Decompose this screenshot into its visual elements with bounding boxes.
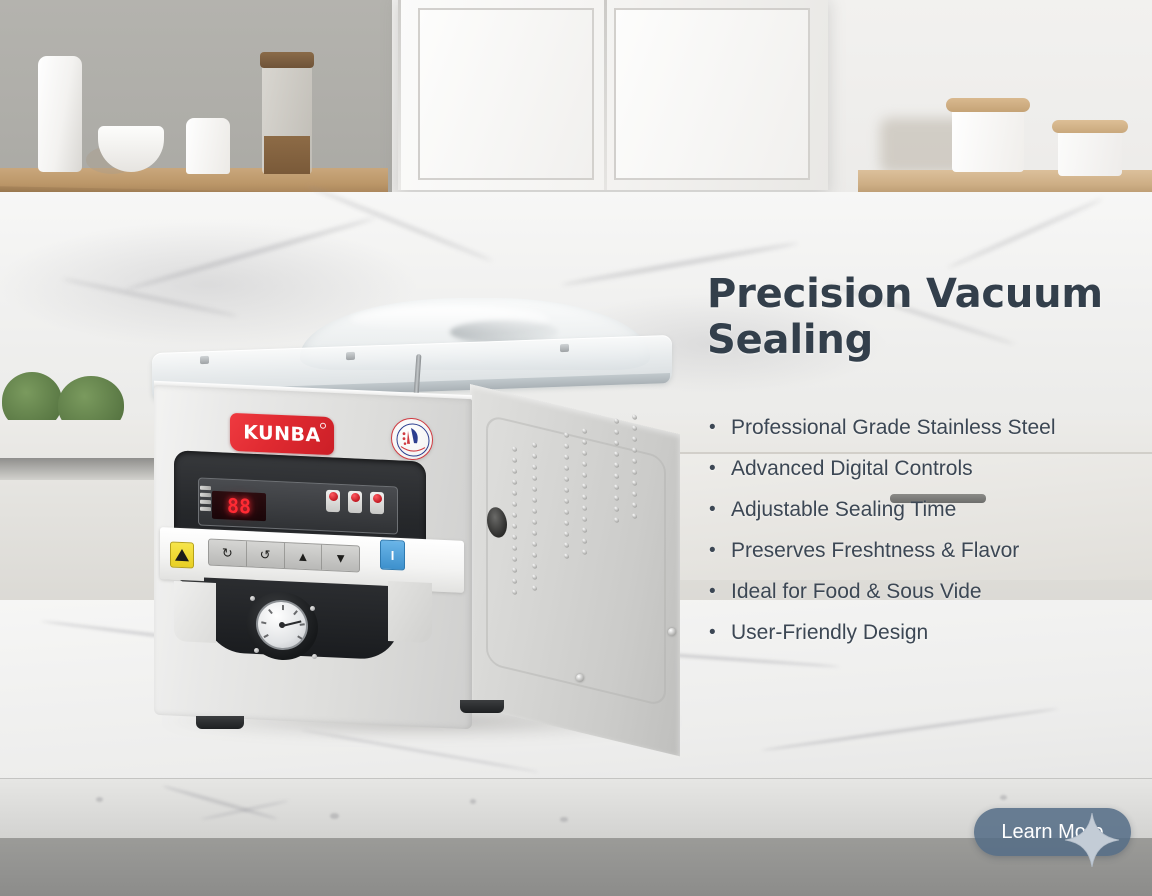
storage-canister-small: [1058, 128, 1122, 176]
list-item: Preserves Freshtness & Flavor: [707, 530, 1137, 571]
vent-column-3: [564, 432, 571, 566]
lid-gloss-highlight: [350, 306, 550, 332]
storage-canister-large: [952, 106, 1024, 172]
screw-rear-side: [668, 628, 676, 636]
lid-clip-right: [560, 344, 569, 352]
led-status-labels: [200, 486, 212, 515]
indicator-button-2[interactable]: [348, 491, 362, 514]
list-item: Professional Grade Stainless Steel: [707, 407, 1137, 448]
cabinet-seam-edge: [398, 0, 401, 190]
list-item: User-Friendly Design: [707, 612, 1137, 653]
gauge-screw-bl: [254, 648, 259, 653]
learn-more-button[interactable]: Learn More: [974, 808, 1131, 856]
front-panel-cutout-right: [388, 581, 432, 643]
cabinet-door-panel-right: [614, 8, 810, 180]
rubber-foot-front-left: [196, 716, 244, 729]
seal-cycle-button[interactable]: ↺: [247, 541, 285, 568]
power-button[interactable]: I: [380, 539, 405, 570]
vacuum-cycle-button[interactable]: ↻: [209, 540, 247, 567]
certification-sticker: [391, 417, 433, 461]
led-seven-segment-display: 88: [212, 491, 266, 521]
list-item: Adjustable Sealing Time: [707, 489, 1137, 530]
gauge-screw-br: [312, 654, 317, 659]
ceramic-vase: [38, 56, 82, 172]
jar-wooden-lid: [260, 52, 314, 68]
screw-bottom-side: [576, 674, 584, 682]
brand-logo-badge: KUNBA: [230, 413, 334, 455]
lid-clip-mid: [346, 352, 355, 360]
vent-column-1: [512, 446, 519, 602]
indicator-button-3[interactable]: [370, 492, 384, 515]
cabinet-door-panel-left: [418, 8, 594, 180]
product-image-vacuum-sealer: KUNBA 88: [140, 296, 700, 746]
advertisement-banner: KUNBA 88: [0, 0, 1152, 896]
lid-clip-left: [200, 356, 209, 364]
led-display-value: 88: [227, 495, 251, 516]
indicator-button-1[interactable]: [326, 490, 340, 513]
vent-column-6: [632, 414, 639, 526]
decrease-button[interactable]: ▼: [322, 545, 359, 572]
list-item: Advanced Digital Controls: [707, 448, 1137, 489]
warning-triangle-label: [170, 541, 194, 568]
marketing-copy: Precision Vacuum Sealing Professional Gr…: [707, 272, 1137, 653]
rubber-foot-front-right: [460, 700, 504, 713]
white-canister: [186, 118, 230, 174]
gauge-screw-tr: [310, 606, 315, 611]
vent-column-5: [614, 418, 621, 530]
brand-dot-mark: [320, 423, 326, 429]
brand-name: KUNBA: [243, 421, 320, 446]
page-title: Precision Vacuum Sealing: [707, 272, 1137, 363]
vent-column-2: [532, 442, 539, 598]
jar-contents: [264, 136, 310, 174]
increase-button[interactable]: ▲: [285, 543, 323, 570]
front-panel-cutout-left: [174, 581, 216, 643]
list-item: Ideal for Food & Sous Vide: [707, 571, 1137, 612]
storage-canister-small-lid: [1052, 120, 1128, 133]
feature-list: Professional Grade Stainless Steel Advan…: [707, 407, 1137, 653]
gauge-screw-tl: [250, 596, 255, 601]
cabinet-seam: [604, 0, 607, 190]
vent-column-4: [582, 428, 589, 562]
storage-canister-large-lid: [946, 98, 1030, 112]
